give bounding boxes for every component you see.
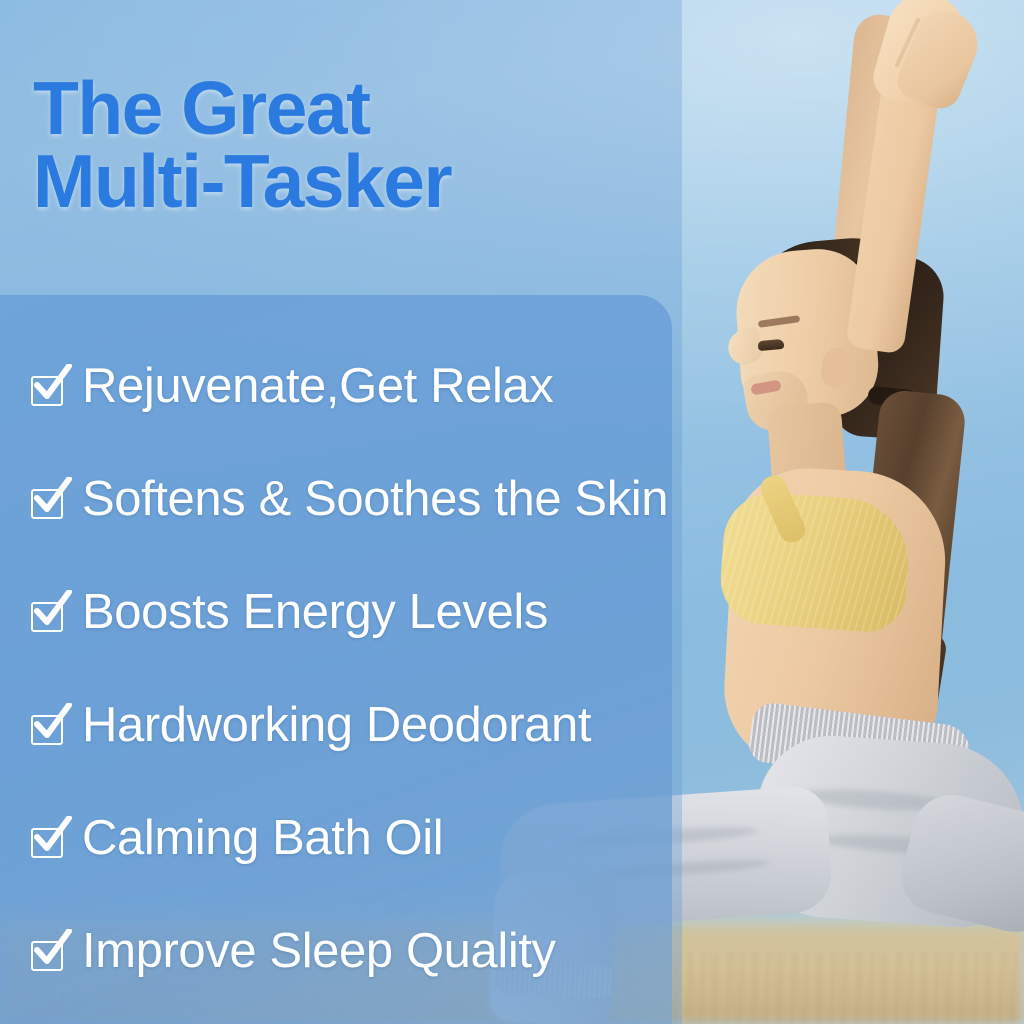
feature-label: Boosts Energy Levels [82, 588, 548, 637]
product-feature-banner: The Great Multi-Tasker Rejuvenate,Get Re… [0, 0, 1024, 1024]
checked-checkbox-icon [28, 933, 68, 973]
checked-checkbox-icon [28, 368, 68, 408]
feature-label: Softens & Soothes the Skin [82, 475, 668, 524]
feature-label: Improve Sleep Quality [82, 927, 556, 976]
checked-checkbox-icon [28, 820, 68, 860]
checkmark [34, 364, 72, 404]
checked-checkbox-icon [28, 594, 68, 634]
list-item: Improve Sleep Quality [28, 895, 668, 1008]
headline-line-1: The Great [33, 66, 370, 150]
feature-list: Rejuvenate,Get Relax Softens & Soothes t… [28, 330, 668, 1008]
checked-checkbox-icon [28, 481, 68, 521]
checkmark [34, 929, 72, 969]
list-item: Boosts Energy Levels [28, 556, 668, 669]
sports-bra [718, 490, 913, 635]
checkmark [34, 703, 72, 743]
feature-label: Hardworking Deodorant [82, 701, 591, 750]
list-item: Hardworking Deodorant [28, 669, 668, 782]
list-item: Rejuvenate,Get Relax [28, 330, 668, 443]
headline-line-2: Multi-Tasker [33, 145, 653, 218]
checkmark [34, 477, 72, 517]
page-title: The Great Multi-Tasker [33, 72, 653, 218]
list-item: Calming Bath Oil [28, 782, 668, 895]
list-item: Softens & Soothes the Skin [28, 443, 668, 556]
feature-label: Calming Bath Oil [82, 814, 443, 863]
feature-label: Rejuvenate,Get Relax [82, 362, 553, 411]
checkmark [34, 816, 72, 856]
checked-checkbox-icon [28, 707, 68, 747]
checkmark [34, 590, 72, 630]
